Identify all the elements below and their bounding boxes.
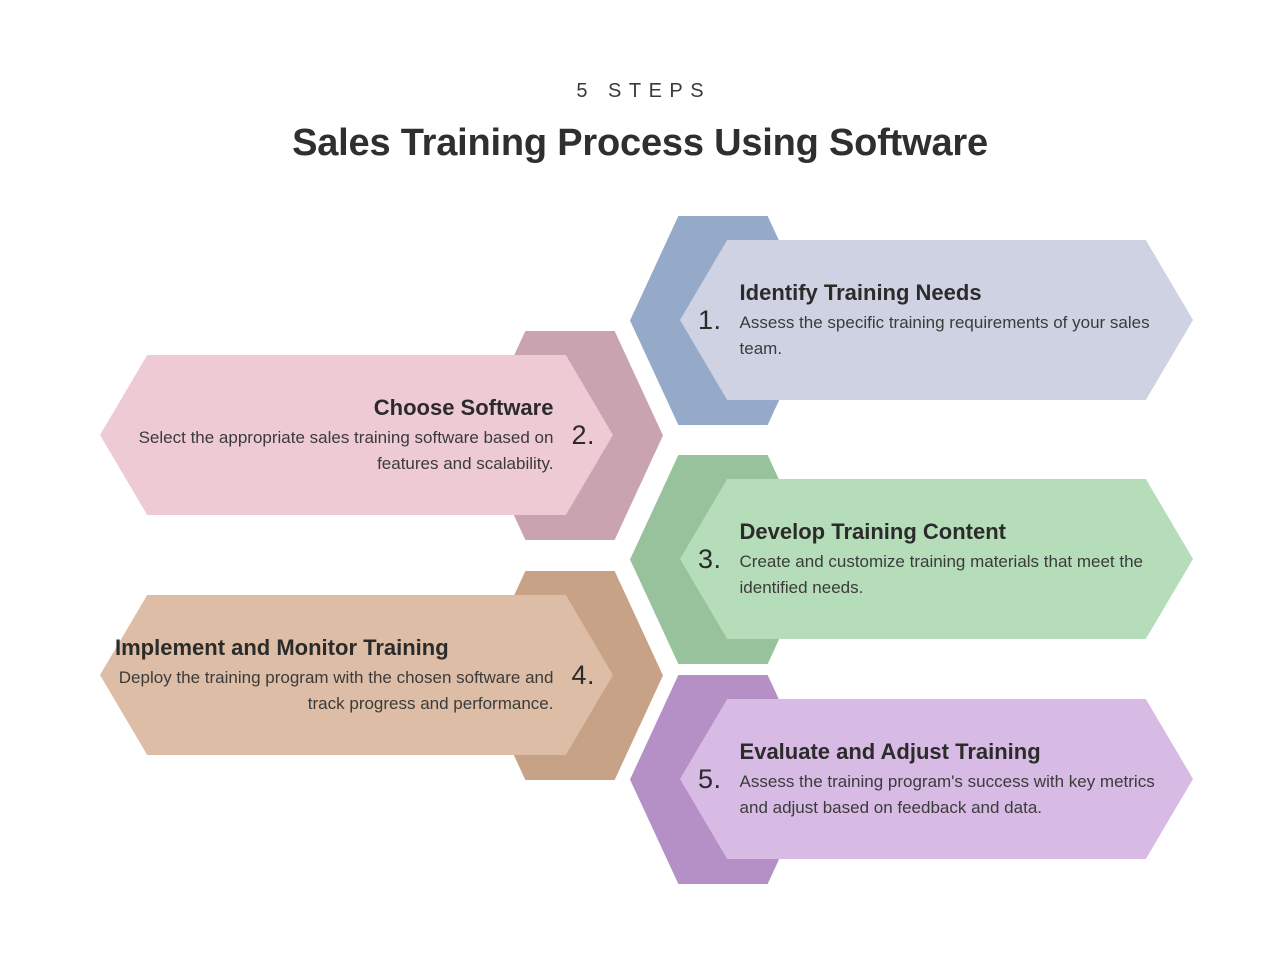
step-content-3: 3. Develop Training Content Create and c… xyxy=(698,479,1178,639)
step-content-2: 2. Choose Software Select the appropriat… xyxy=(115,355,595,515)
step-title: Identify Training Needs xyxy=(740,279,1178,307)
step-text-block: Choose Software Select the appropriate s… xyxy=(115,394,553,477)
step-content-4: 4. Implement and Monitor Training Deploy… xyxy=(115,595,595,755)
step-item-1[interactable]: 1. Identify Training Needs Assess the sp… xyxy=(620,216,1193,425)
step-item-2[interactable]: 2. Choose Software Select the appropriat… xyxy=(87,331,673,540)
step-number: 4. xyxy=(571,662,595,689)
step-description: Deploy the training program with the cho… xyxy=(115,665,553,716)
step-description: Create and customize training materials … xyxy=(740,549,1178,600)
step-title: Choose Software xyxy=(115,394,553,422)
step-item-3[interactable]: 3. Develop Training Content Create and c… xyxy=(620,455,1193,664)
step-number: 1. xyxy=(698,307,722,334)
step-text-block: Identify Training Needs Assess the speci… xyxy=(740,279,1178,362)
step-content-1: 1. Identify Training Needs Assess the sp… xyxy=(698,240,1178,400)
step-number: 3. xyxy=(698,546,722,573)
step-description: Assess the training program's success wi… xyxy=(740,769,1178,820)
step-description: Select the appropriate sales training so… xyxy=(115,425,553,476)
step-text-block: Develop Training Content Create and cust… xyxy=(740,518,1178,601)
step-number: 2. xyxy=(571,422,595,449)
step-description: Assess the specific training requirement… xyxy=(740,310,1178,361)
step-item-5[interactable]: 5. Evaluate and Adjust Training Assess t… xyxy=(620,675,1193,884)
step-title: Implement and Monitor Training xyxy=(115,634,553,662)
step-item-4[interactable]: 4. Implement and Monitor Training Deploy… xyxy=(87,571,673,780)
step-text-block: Implement and Monitor Training Deploy th… xyxy=(115,634,553,717)
step-title: Evaluate and Adjust Training xyxy=(740,738,1178,766)
eyebrow-label: 5 STEPS xyxy=(0,80,1280,103)
page-title: Sales Training Process Using Software xyxy=(0,122,1280,165)
step-number: 5. xyxy=(698,766,722,793)
step-content-5: 5. Evaluate and Adjust Training Assess t… xyxy=(698,699,1178,859)
step-title: Develop Training Content xyxy=(740,518,1178,546)
step-text-block: Evaluate and Adjust Training Assess the … xyxy=(740,738,1178,821)
infographic-canvas: 5 STEPS Sales Training Process Using Sof… xyxy=(0,0,1280,960)
